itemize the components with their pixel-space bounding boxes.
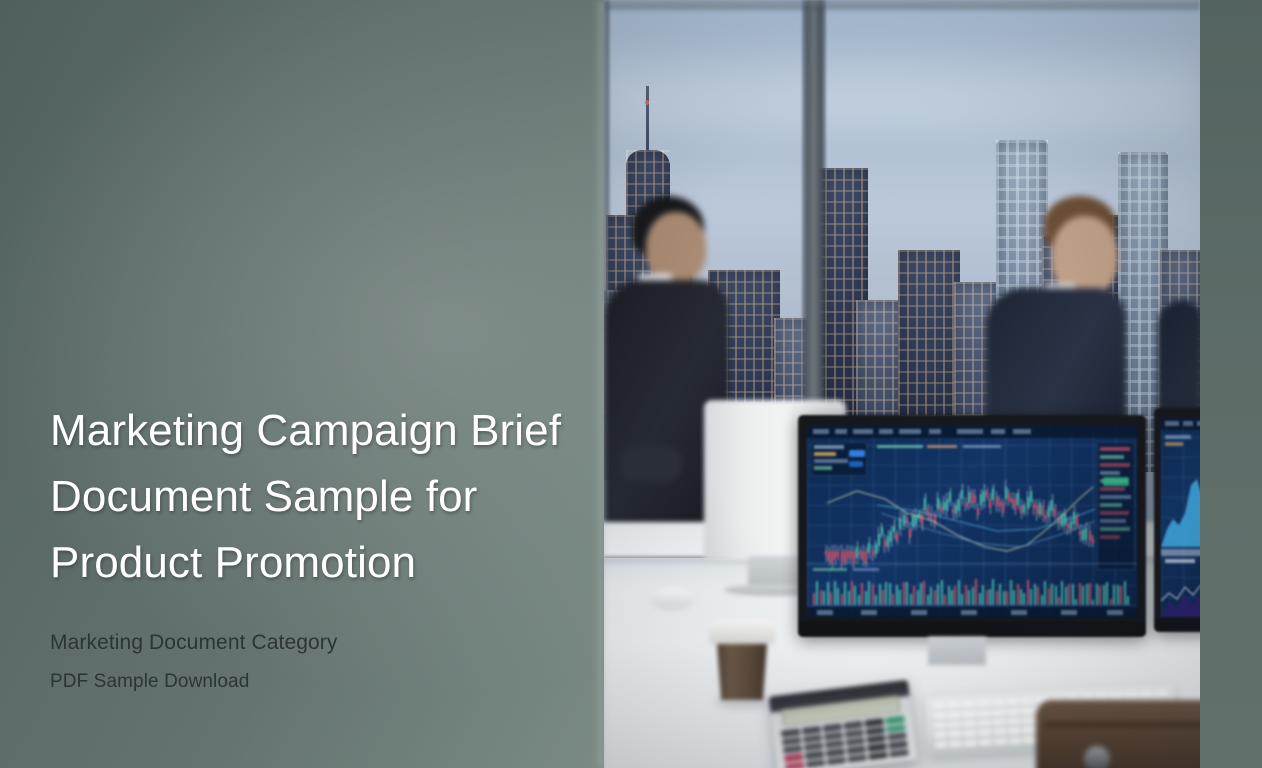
monitor-screen — [807, 425, 1137, 617]
volume-series — [813, 575, 1131, 605]
page-root: Marketing Campaign Brief Document Sample… — [0, 0, 1262, 768]
document-subtitle: PDF Sample Download — [50, 668, 590, 696]
mouse — [650, 588, 694, 610]
right-border-strip — [1200, 0, 1262, 768]
trading-monitor-primary — [798, 415, 1146, 637]
office-chair — [1036, 700, 1200, 768]
calculator — [769, 680, 918, 768]
trading-monitor-secondary — [1154, 408, 1200, 632]
monitor-stand-primary — [928, 637, 986, 665]
document-category: Marketing Document Category — [50, 628, 590, 658]
panel-edge-highlight — [594, 0, 604, 768]
page-title: Marketing Campaign Brief Document Sample… — [50, 398, 590, 596]
window-rail — [598, 0, 1200, 10]
title-block: Marketing Campaign Brief Document Sample… — [50, 398, 590, 696]
monitor-screen-secondary — [1161, 417, 1200, 617]
coffee-cup — [713, 620, 771, 702]
title-panel: Marketing Campaign Brief Document Sample… — [0, 0, 604, 768]
hero-photo — [598, 0, 1200, 768]
